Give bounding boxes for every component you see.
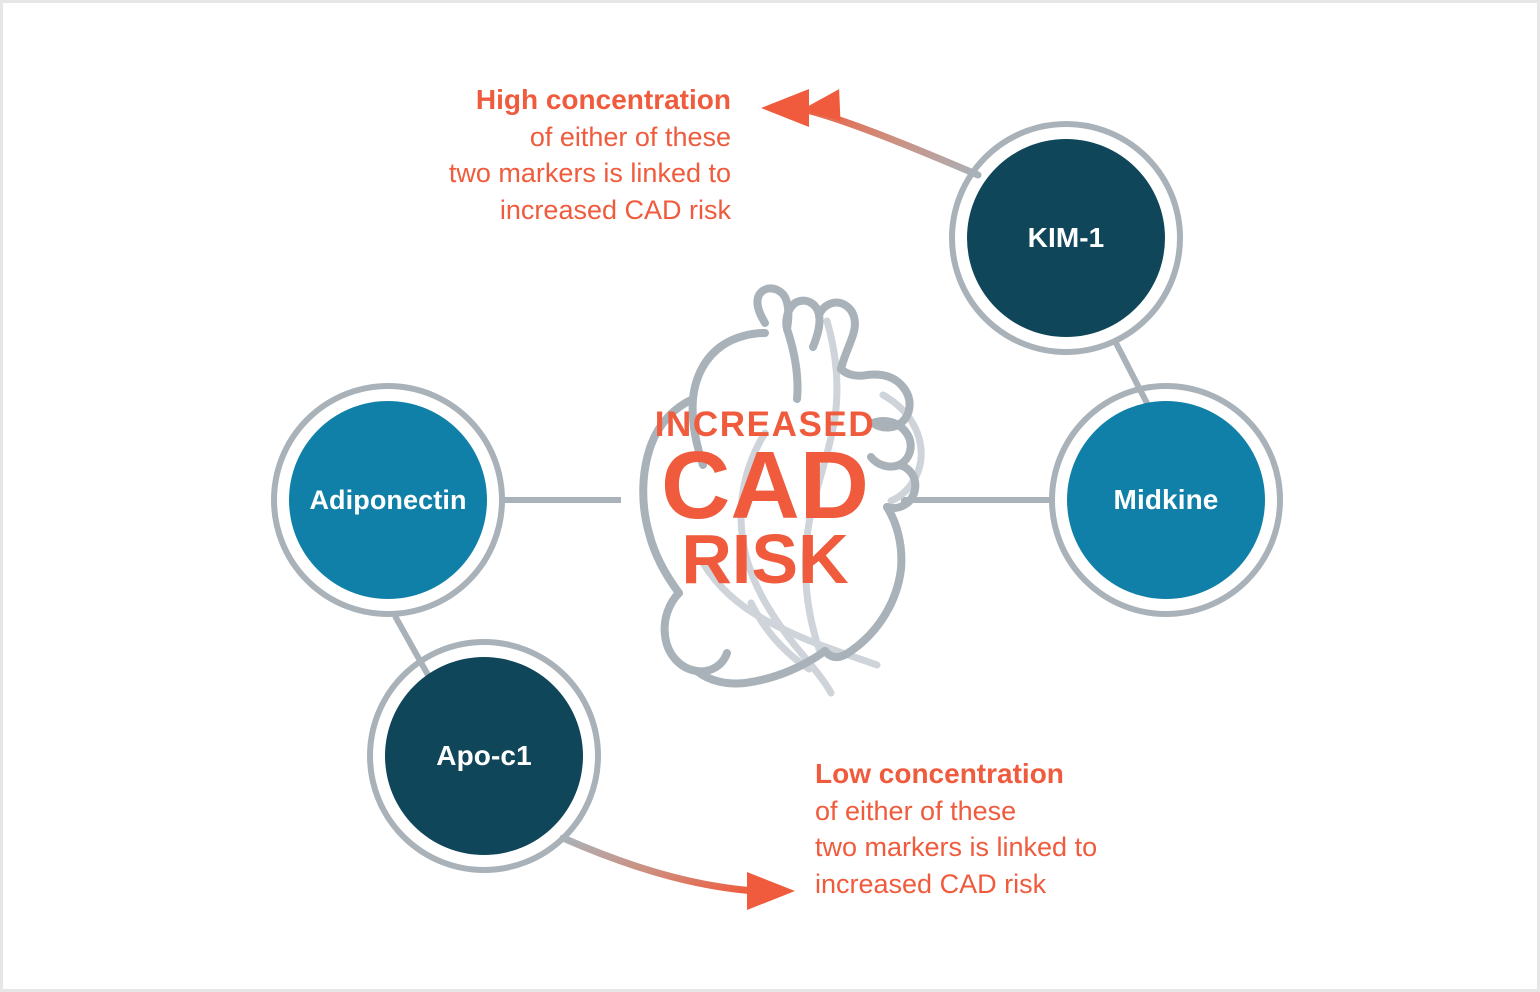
annotation-low-lead: Low concentration	[815, 755, 1235, 793]
center-title-line-risk: RISK	[615, 524, 915, 594]
node-label-adiponectin: Adiponectin	[309, 485, 466, 516]
node-apo-c1[interactable]: Apo-c1	[385, 657, 583, 855]
node-label-kim-1: KIM-1	[1028, 222, 1105, 254]
annotation-high-line-1: of either of these	[275, 119, 731, 155]
center-title: INCREASED CAD RISK	[615, 407, 915, 594]
diagram-canvas: KIM-1 Midkine Adiponectin Apo-c1 INCREAS…	[0, 0, 1540, 992]
curved-arrow-left	[761, 89, 978, 175]
annotation-low-line-1: of either of these	[815, 793, 1235, 829]
node-midkine[interactable]: Midkine	[1067, 401, 1265, 599]
annotation-low-line-2: two markers is linked to	[815, 829, 1235, 865]
annotation-high-line-3: increased CAD risk	[275, 192, 731, 228]
annotation-low-line-3: increased CAD risk	[815, 866, 1235, 902]
node-kim-1[interactable]: KIM-1	[967, 139, 1165, 337]
node-label-midkine: Midkine	[1114, 484, 1219, 516]
annotation-low-concentration: Low concentration of either of these two…	[815, 755, 1235, 902]
node-adiponectin[interactable]: Adiponectin	[289, 401, 487, 599]
annotation-high-lead: High concentration	[275, 81, 731, 119]
node-label-apo-c1: Apo-c1	[436, 740, 532, 772]
curved-arrow-right	[563, 838, 795, 910]
annotation-high-line-2: two markers is linked to	[275, 155, 731, 191]
annotation-high-concentration: High concentration of either of these tw…	[275, 81, 731, 228]
